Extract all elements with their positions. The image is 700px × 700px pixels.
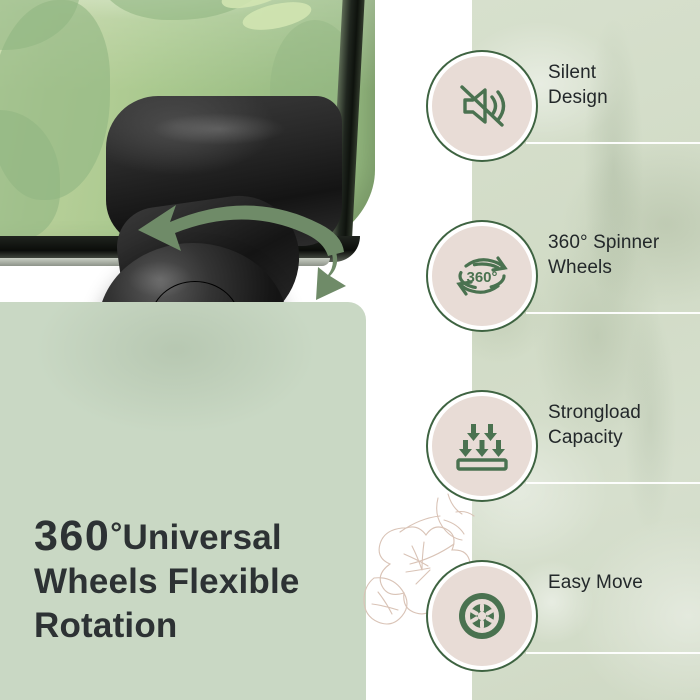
- headline-number: 360: [34, 512, 110, 560]
- feature-item-spinner-wheels[interactable]: 360° 360° Spinner Wheels: [428, 222, 700, 326]
- feature-item-silent-design[interactable]: Silent Design: [428, 52, 700, 156]
- page-title: 360°Universal Wheels Flexible Rotation: [34, 512, 364, 648]
- housing-gloss: [124, 106, 314, 152]
- feature-label: Silent Design: [548, 60, 700, 110]
- feature-label-line1: Strongload: [548, 402, 641, 423]
- headline-line2: Wheels Flexible: [34, 562, 300, 601]
- feature-icon-circle: [428, 392, 536, 500]
- headline-degree: °: [110, 517, 122, 550]
- feature-label: 360° Spinner Wheels: [548, 230, 700, 280]
- feature-divider: [526, 482, 700, 484]
- feature-item-easy-move[interactable]: Easy Move: [428, 562, 700, 666]
- 360-rotation-icon: 360°: [452, 248, 512, 304]
- headline-line3: Rotation: [34, 606, 178, 645]
- feature-divider: [526, 652, 700, 654]
- feature-label: Strongload Capacity: [548, 400, 700, 450]
- feature-divider: [526, 312, 700, 314]
- feature-item-strongload-capacity[interactable]: Strongload Capacity: [428, 392, 700, 496]
- bottom-arrow-row: [459, 440, 505, 457]
- down-arrows-on-bar-icon: [454, 420, 510, 472]
- infographic-canvas: 360°Universal Wheels Flexible Rotation S…: [0, 0, 700, 700]
- wheel-tire-icon: [453, 587, 511, 645]
- feature-label-line1: 360° Spinner: [548, 232, 659, 253]
- headline-line1-rest: Universal: [122, 518, 281, 557]
- 360-icon-text: 360°: [466, 269, 497, 286]
- feature-label-line2: Wheels: [548, 257, 612, 278]
- feature-icon-circle: [428, 562, 536, 670]
- top-arrow-row: [467, 424, 497, 441]
- feature-label-line1: Easy Move: [548, 572, 643, 593]
- mute-speaker-icon: [453, 77, 511, 135]
- feature-label-line2: Design: [548, 87, 608, 108]
- feature-label: Easy Move: [548, 570, 700, 595]
- feature-label-line1: Silent: [548, 62, 596, 83]
- feature-icon-circle: [428, 52, 536, 160]
- feature-label-line2: Capacity: [548, 427, 623, 448]
- feature-divider: [526, 142, 700, 144]
- feature-icon-circle: 360°: [428, 222, 536, 330]
